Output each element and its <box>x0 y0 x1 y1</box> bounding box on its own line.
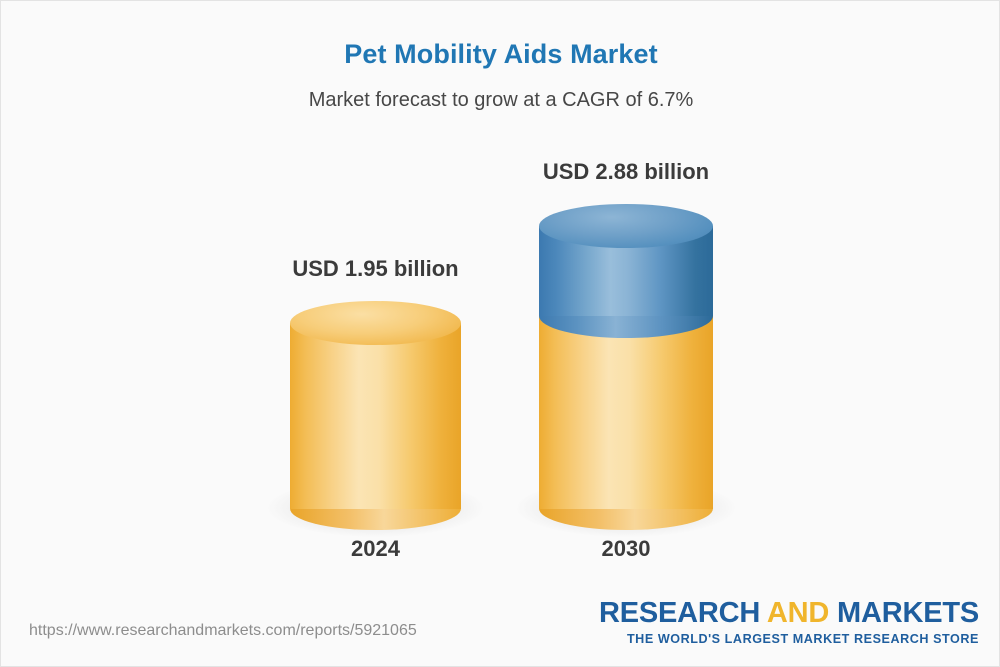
cylinder-segment-base-2030 <box>539 316 713 509</box>
brand-wordmark-and: AND <box>767 597 829 629</box>
plot-area: USD 1.95 billion 2024 USD 2.88 billion 2… <box>1 1 1000 601</box>
brand-tagline: THE WORLD'S LARGEST MARKET RESEARCH STOR… <box>599 632 979 646</box>
cylinder-seam-2030 <box>539 487 713 509</box>
value-label-2024: USD 1.95 billion <box>230 256 521 282</box>
cylinder-body-2024 <box>290 323 461 509</box>
brand-wordmark: RESEARCH AND MARKETS <box>599 599 979 628</box>
bar-group-2030: USD 2.88 billion 2030 <box>539 204 713 531</box>
cylinder-segment-seam-top-2030 <box>539 294 713 316</box>
category-label-2024: 2024 <box>250 536 501 562</box>
brand-wordmark-part1: RESEARCH <box>599 597 767 629</box>
brand-logo[interactable]: RESEARCH AND MARKETS THE WORLD'S LARGEST… <box>599 599 979 646</box>
category-label-2030: 2030 <box>499 536 753 562</box>
cylinder-top-cap-2030 <box>539 204 713 248</box>
source-url[interactable]: https://www.researchandmarkets.com/repor… <box>29 622 417 640</box>
brand-wordmark-part2: MARKETS <box>829 597 979 629</box>
cylinder-seam-2024 <box>290 487 461 509</box>
chart-canvas: Pet Mobility Aids Market Market forecast… <box>0 0 1000 667</box>
value-label-2030: USD 2.88 billion <box>479 159 773 185</box>
cylinder-top-cap-2024 <box>290 301 461 345</box>
bar-group-2024: USD 1.95 billion 2024 <box>290 301 461 531</box>
